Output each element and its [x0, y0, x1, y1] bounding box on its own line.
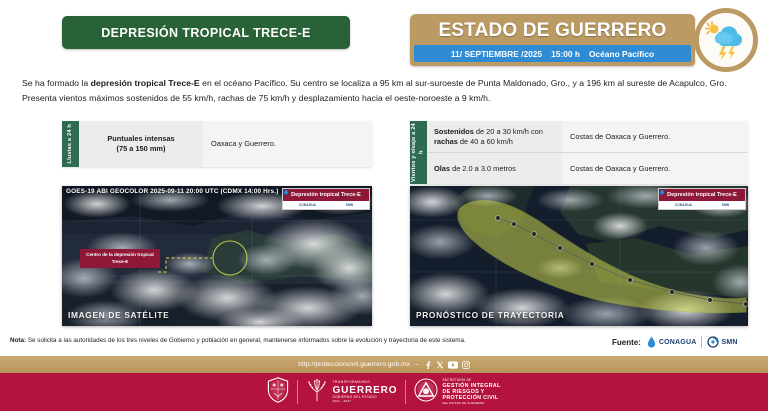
- table-row: Sostenidos de 20 a 30 km/h con rachas de…: [427, 121, 748, 153]
- proteccion-civil-triangle-icon: [414, 378, 438, 407]
- bulletin-date: 11/ SEPTIEMBRE /2025: [451, 49, 542, 59]
- conagua-logo-text: CONAGUA: [675, 203, 692, 207]
- note-label: Nota:: [10, 337, 26, 344]
- satellite-storm-label-title: Depresión tropical Trece-E: [283, 189, 369, 201]
- bulletin-summary: Se ha formado la depresión tropical Trec…: [22, 76, 748, 106]
- footer-divider: [297, 380, 298, 404]
- smn-swirl-icon: [283, 189, 289, 195]
- satellite-image-panel: GOES-19 ABI GEOCOLOR 2025-09-11 20:00 UT…: [62, 186, 372, 326]
- wave-zone-cell: Costas de Oaxaca y Guerrero.: [562, 153, 748, 184]
- footer-years: 2021 - 2027: [332, 400, 397, 403]
- sun-cloud-lightning-icon: [694, 8, 758, 72]
- date-time-bar: 11/ SEPTIEMBRE /2025 15:00 h Océano Pací…: [414, 45, 691, 62]
- wind-zone-cell: Costas de Oaxaca y Guerrero.: [562, 121, 748, 152]
- smn-logo-text: SMN: [722, 203, 729, 207]
- rain-intensity-label: Puntuales intensas: [107, 134, 174, 143]
- source-label: Fuente:: [612, 338, 641, 347]
- smn-logo-text: SMN: [721, 339, 737, 346]
- guerrero-coat-of-arms-icon: [267, 377, 289, 408]
- state-title: ESTADO DE GUERRERO: [410, 17, 695, 44]
- wind-table-vertical-label: Vientos y oleaje a 24 h: [411, 121, 426, 184]
- summary-part-1: Se ha formado la: [22, 78, 91, 88]
- footer-divider: [405, 380, 406, 404]
- transformando-guerrero-logo: TRANSFORMANDO GUERRERO GOBIERNO DEL ESTA…: [306, 378, 397, 407]
- trajectory-forecast-panel: Depresión tropical Trece-E CONAGUA SMN: [410, 186, 748, 326]
- note-text: Se solicita a las autoridades de los tre…: [26, 337, 466, 344]
- wave-label: Olas: [434, 164, 450, 173]
- wind-wave-forecast-table: Vientos y oleaje a 24 h Sostenidos de 20…: [410, 121, 748, 184]
- instagram-icon[interactable]: [462, 361, 470, 369]
- url-dash: –: [415, 361, 419, 368]
- satellite-timestamp: GOES-19 ABI GEOCOLOR 2025-09-11 20:00 UT…: [66, 188, 278, 195]
- wind-gust-value: de 40 a 60 km/h: [458, 137, 513, 146]
- trajectory-storm-label: Depresión tropical Trece-E CONAGUA SMN: [658, 188, 746, 210]
- civil-line-5: DEL ESTADO DE GUERRERO: [442, 402, 500, 405]
- wind-sustained-cell: Sostenidos de 20 a 30 km/h con rachas de…: [427, 121, 562, 152]
- rain-zone-cell: Oaxaca y Guerrero.: [203, 121, 372, 167]
- source-divider: [701, 336, 702, 348]
- conagua-logo: CONAGUA: [675, 203, 692, 207]
- wind-sustained-value: de 20 a 30 km/h con: [474, 127, 543, 136]
- rain-forecast-table: Lluvias a 24 h Puntuales intensas (75 a …: [62, 121, 372, 167]
- satellite-panel-caption: IMAGEN DE SATÉLITE: [68, 310, 169, 320]
- satellite-storm-label: Depresión tropical Trece-E CONAGUA SMN: [282, 188, 370, 210]
- rain-table-body: Puntuales intensas (75 a 150 mm) Oaxaca …: [79, 121, 372, 167]
- trajectory-panel-caption: PRONÓSTICO DE TRAYECTORIA: [416, 310, 564, 320]
- smn-logo: SMN: [722, 203, 729, 207]
- wind-gust-label: rachas: [434, 137, 458, 146]
- summary-storm-name: depresión tropical Trece-E: [91, 78, 200, 88]
- wave-value: de 2.0 a 3.0 metros: [450, 164, 516, 173]
- website-url[interactable]: http://proteccioncivil.guerrero.gob.mx: [298, 361, 410, 368]
- rain-intensity-cell: Puntuales intensas (75 a 150 mm): [79, 121, 203, 167]
- satellite-label-logos: CONAGUA SMN: [283, 201, 369, 209]
- rain-table-vertical-header: Lluvias a 24 h: [62, 121, 79, 167]
- storm-center-callout: Centro de la depresión tropical Trece-E: [80, 249, 160, 268]
- government-footer: TRANSFORMANDO GUERRERO GOBIERNO DEL ESTA…: [0, 373, 768, 411]
- smn-logo: SMN: [346, 203, 353, 207]
- guerrero-wordmark: TRANSFORMANDO GUERRERO GOBIERNO DEL ESTA…: [332, 381, 397, 402]
- wave-height-cell: Olas de 2.0 a 3.0 metros: [427, 153, 562, 184]
- proteccion-civil-logo: SECRETARÍA DE GESTIÓN INTEGRAL DE RIESGO…: [414, 378, 500, 407]
- youtube-icon[interactable]: [448, 361, 458, 369]
- conagua-logo: CONAGUA: [299, 203, 316, 207]
- smn-logo-text: SMN: [346, 203, 353, 207]
- smn-logo: SMN: [707, 336, 737, 348]
- trajectory-storm-label-title: Depresión tropical Trece-E: [659, 189, 745, 201]
- bulletin-basin: Océano Pacífico: [589, 49, 654, 59]
- conagua-logo-text: CONAGUA: [299, 203, 316, 207]
- bulletin-root: DEPRESIÓN TROPICAL TRECE-E ESTADO DE GUE…: [0, 0, 768, 411]
- wind-table-body: Sostenidos de 20 a 30 km/h con rachas de…: [427, 121, 748, 184]
- conagua-logo-text: CONAGUA: [659, 339, 697, 346]
- x-twitter-icon[interactable]: [436, 361, 444, 369]
- website-url-bar: http://proteccioncivil.guerrero.gob.mx –: [0, 356, 768, 373]
- state-header-banner: ESTADO DE GUERRERO 11/ SEPTIEMBRE /2025 …: [410, 14, 695, 66]
- table-row: Olas de 2.0 a 3.0 metros Costas de Oaxac…: [427, 153, 748, 184]
- smn-swirl-icon: [659, 189, 665, 195]
- table-row: Puntuales intensas (75 a 150 mm) Oaxaca …: [79, 121, 372, 167]
- rain-table-vertical-label: Lluvias a 24 h: [67, 124, 75, 164]
- storm-name-banner: DEPRESIÓN TROPICAL TRECE-E: [62, 16, 350, 49]
- social-icons: [424, 361, 470, 369]
- storm-name-text: DEPRESIÓN TROPICAL TRECE-E: [101, 26, 311, 40]
- wind-table-vertical-header: Vientos y oleaje a 24 h: [410, 121, 427, 184]
- guerrero-tree-icon: [306, 378, 328, 407]
- bulletin-note: Nota: Se solicita a las autoridades de l…: [10, 337, 585, 346]
- source-attribution: Fuente: CONAGUA SMN: [612, 336, 738, 348]
- trajectory-label-logos: CONAGUA SMN: [659, 201, 745, 209]
- proteccion-civil-wordmark: SECRETARÍA DE GESTIÓN INTEGRAL DE RIESGO…: [442, 379, 500, 404]
- rain-intensity-range: (75 a 150 mm): [117, 144, 166, 153]
- facebook-icon[interactable]: [424, 361, 432, 369]
- conagua-drop-icon: [646, 336, 657, 348]
- bulletin-time: 15:00 h: [551, 49, 580, 59]
- smn-swirl-icon: [707, 336, 719, 348]
- conagua-logo: CONAGUA: [646, 336, 697, 348]
- wind-sustained-label: Sostenidos: [434, 127, 474, 136]
